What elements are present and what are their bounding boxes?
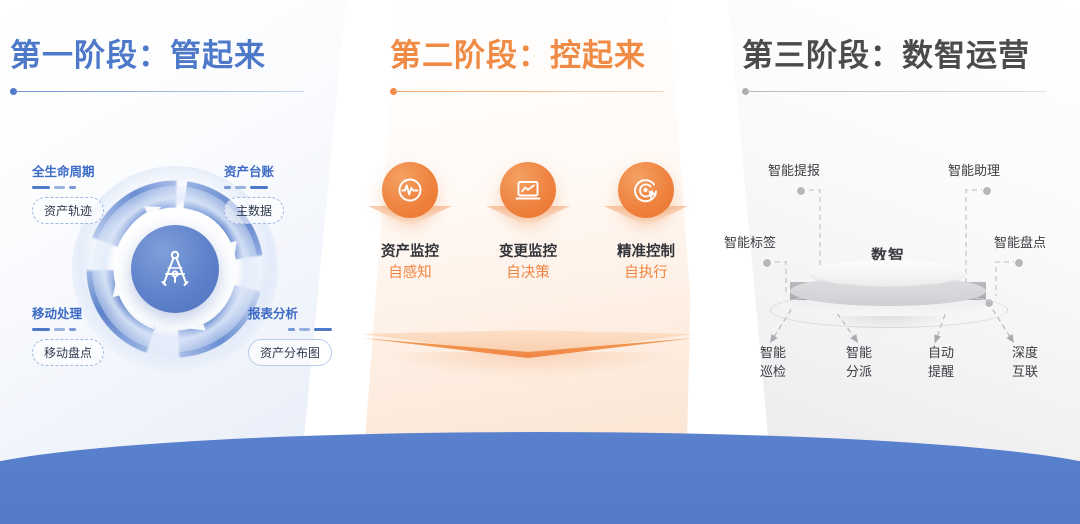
label-pill[interactable]: 资产分布图 bbox=[248, 339, 332, 366]
capability-row: 资产监控 自感知 变更监控 自决策 bbox=[352, 162, 704, 284]
line-1: 智能 bbox=[744, 344, 802, 363]
label-pill[interactable]: 资产轨迹 bbox=[32, 197, 104, 224]
wave-fill bbox=[0, 432, 1080, 524]
connector-node bbox=[982, 186, 992, 196]
label-pill[interactable]: 移动盘点 bbox=[32, 339, 104, 366]
chart-screen-icon bbox=[513, 175, 543, 205]
orb[interactable] bbox=[382, 162, 438, 218]
stage-2-platform bbox=[362, 330, 694, 364]
capability-asset-monitoring[interactable]: 资产监控 自感知 bbox=[374, 162, 446, 284]
node-label-intelligent-tagging[interactable]: 智能标签 bbox=[724, 234, 776, 252]
node-label-deep-connection[interactable]: 深度 互联 bbox=[996, 344, 1054, 382]
orb[interactable] bbox=[618, 162, 674, 218]
rule-line bbox=[746, 91, 1046, 93]
orb[interactable] bbox=[500, 162, 556, 218]
caption-primary: 资产监控 bbox=[374, 242, 446, 263]
compass-divider-icon bbox=[152, 246, 198, 292]
podium-reflection bbox=[828, 316, 948, 330]
stage-2-content: 资产监控 自感知 变更监控 自决策 bbox=[352, 150, 704, 410]
line-1: 智能 bbox=[830, 344, 888, 363]
label-asset-ledger[interactable]: 资产台账 主数据 bbox=[224, 166, 284, 224]
label-full-lifecycle[interactable]: 全生命周期 资产轨迹 bbox=[32, 166, 104, 224]
label-heading: 资产台账 bbox=[224, 166, 284, 179]
line-2: 提醒 bbox=[912, 363, 970, 382]
target-cursor-icon bbox=[631, 175, 661, 205]
rule-line bbox=[14, 91, 304, 93]
stage-1-title: 第一阶段：管起来 bbox=[10, 38, 266, 74]
caption-primary: 变更监控 bbox=[492, 242, 564, 263]
stage-2-header: 第二阶段：控起来 bbox=[390, 38, 646, 95]
capability-caption: 精准控制 自执行 bbox=[610, 242, 682, 284]
node-label-intelligent-reporting[interactable]: 智能提报 bbox=[768, 162, 820, 180]
label-dashes bbox=[32, 328, 104, 332]
stage-1-rule bbox=[10, 88, 266, 95]
node-label-intelligent-inspection[interactable]: 智能 巡检 bbox=[744, 344, 802, 382]
podium-top-disc bbox=[810, 260, 966, 286]
rule-line bbox=[394, 91, 664, 93]
caption-secondary: 自感知 bbox=[374, 263, 446, 284]
capability-precise-control[interactable]: 精准控制 自执行 bbox=[610, 162, 682, 284]
label-heading: 全生命周期 bbox=[32, 166, 104, 179]
caption-primary: 精准控制 bbox=[610, 242, 682, 263]
node-label-intelligent-inventory[interactable]: 智能盘点 bbox=[994, 234, 1046, 252]
bottom-wave bbox=[0, 414, 1080, 524]
stage-2-title: 第二阶段：控起来 bbox=[390, 38, 646, 74]
label-dashes bbox=[224, 186, 284, 190]
line-1: 自动 bbox=[912, 344, 970, 363]
pulse-monitor-icon bbox=[395, 175, 425, 205]
stage-3-content: 智能提报 智能助理 智能标签 智能盘点 数智 智能 巡检 智能 分派 自动 提醒… bbox=[700, 150, 1080, 420]
node-label-intelligent-assistant[interactable]: 智能助理 bbox=[948, 162, 1000, 180]
line-2: 分派 bbox=[830, 363, 888, 382]
stage-2-rule bbox=[390, 88, 646, 95]
node-label-auto-reminder[interactable]: 自动 提醒 bbox=[912, 344, 970, 382]
label-pill[interactable]: 主数据 bbox=[224, 197, 284, 224]
label-heading: 报表分析 bbox=[248, 308, 332, 321]
capability-caption: 资产监控 自感知 bbox=[374, 242, 446, 284]
label-dashes bbox=[248, 328, 332, 332]
label-mobile-handling[interactable]: 移动处理 移动盘点 bbox=[32, 308, 104, 366]
node-label-intelligent-dispatch[interactable]: 智能 分派 bbox=[830, 344, 888, 382]
line-2: 巡检 bbox=[744, 363, 802, 382]
stage-1-content: 全生命周期 资产轨迹 资产台账 主数据 移动处理 移动盘点 报表分析 资产分布图 bbox=[0, 150, 346, 410]
label-dashes bbox=[32, 186, 104, 190]
infographic-stage: 第一阶段：管起来 第二阶段：控起来 第三阶段：数智运营 bbox=[0, 0, 1080, 524]
stage-1-header: 第一阶段：管起来 bbox=[10, 38, 266, 95]
caption-secondary: 自决策 bbox=[492, 263, 564, 284]
stage-3-rule bbox=[742, 88, 1030, 95]
connector-node bbox=[796, 186, 806, 196]
data-intelligence-podium: 数智 bbox=[788, 260, 988, 318]
line-1: 深度 bbox=[996, 344, 1054, 363]
capability-caption: 变更监控 自决策 bbox=[492, 242, 564, 284]
stage-3-title: 第三阶段：数智运营 bbox=[742, 38, 1030, 74]
label-report-analysis[interactable]: 报表分析 资产分布图 bbox=[248, 308, 332, 366]
connector-node bbox=[1014, 258, 1024, 268]
capability-change-monitoring[interactable]: 变更监控 自决策 bbox=[492, 162, 564, 284]
platform-glow bbox=[382, 352, 674, 378]
stage-3-header: 第三阶段：数智运营 bbox=[742, 38, 1030, 95]
ring-hub bbox=[131, 225, 219, 313]
label-heading: 移动处理 bbox=[32, 308, 104, 321]
caption-secondary: 自执行 bbox=[610, 263, 682, 284]
connector-node bbox=[762, 258, 772, 268]
line-2: 互联 bbox=[996, 363, 1054, 382]
